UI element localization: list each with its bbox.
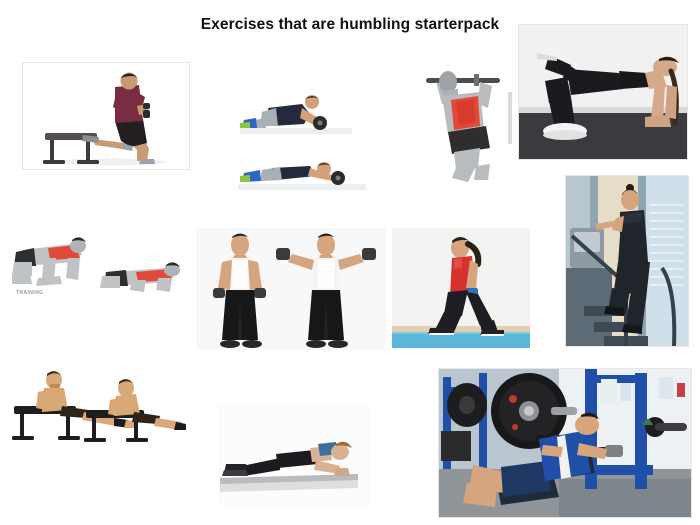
panel-stair-climber[interactable] — [565, 175, 689, 347]
training-watermark: TRAINING — [16, 290, 43, 296]
panel-ab-wheel-rollout[interactable] — [232, 68, 384, 196]
panel-forearm-plank[interactable] — [218, 404, 370, 506]
pull-up-anatomy-image — [418, 56, 516, 186]
panel-dumbbell-lunge[interactable] — [392, 228, 530, 348]
push-up-anatomy-image: TRAINING — [8, 228, 186, 318]
bulgarian-split-squat-image — [23, 63, 189, 169]
panel-bench-dips[interactable] — [10, 370, 188, 448]
ab-wheel-rollout-image — [232, 68, 384, 196]
meme-canvas: Exercises that are humbling starterpack — [0, 0, 700, 525]
dumbbell-lunge-image — [392, 228, 530, 348]
bench-dips-image — [10, 370, 188, 448]
panel-pull-up-anatomy[interactable] — [418, 56, 516, 186]
dumbbell-lateral-raise-image — [196, 228, 386, 350]
panel-push-up-anatomy[interactable]: TRAINING — [8, 228, 186, 318]
panel-single-leg-glute-bridge[interactable] — [518, 24, 688, 160]
single-leg-glute-bridge-image — [519, 25, 687, 159]
panel-bulgarian-split-squat[interactable] — [22, 62, 190, 170]
panel-chest-press-machine[interactable] — [438, 368, 692, 518]
panel-dumbbell-lateral-raise[interactable] — [196, 228, 386, 350]
forearm-plank-image — [218, 404, 370, 506]
chest-press-machine-image — [439, 369, 691, 517]
stair-climber-image — [566, 176, 688, 346]
